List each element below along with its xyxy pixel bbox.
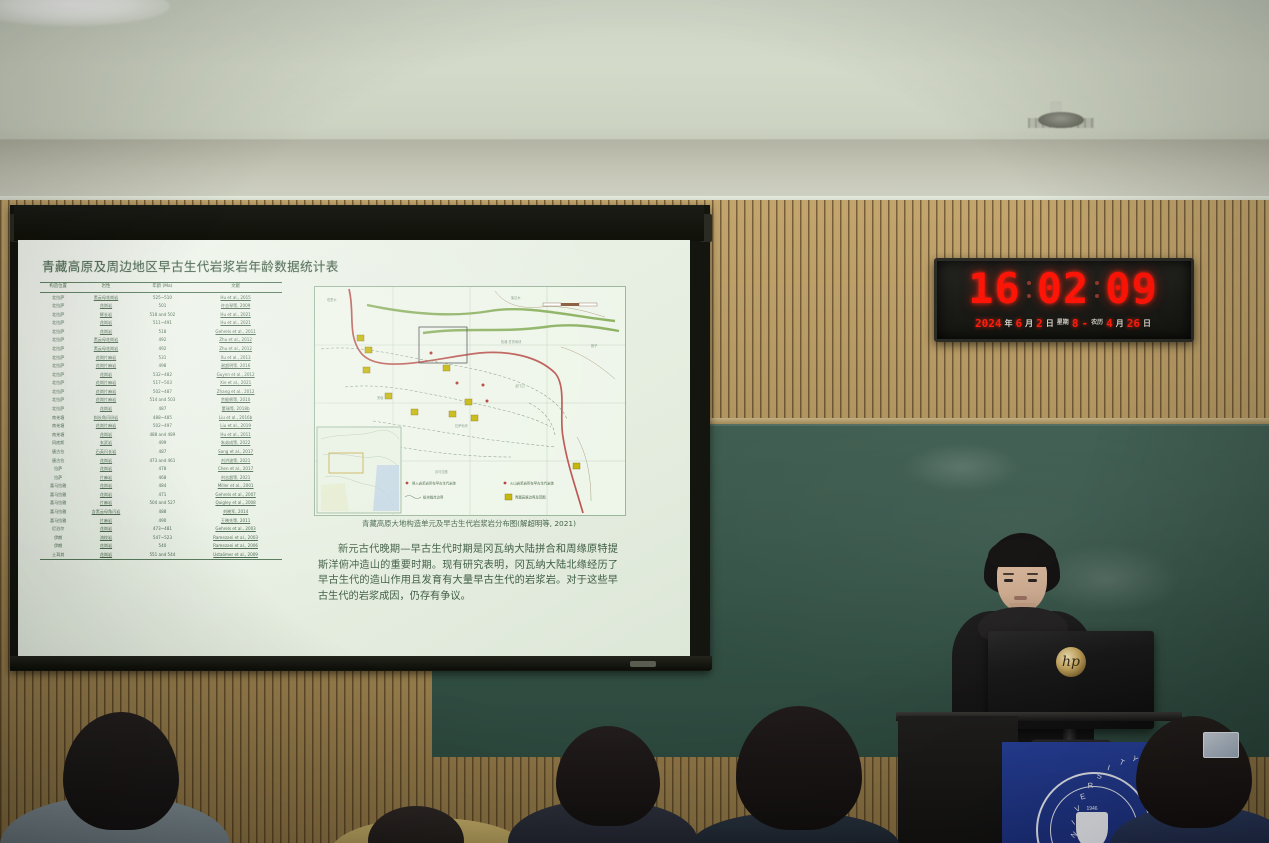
age-data-table-wrapper: 构造位置 岩性 年龄 (Ma) 文献 北拉萨黑云母花岗岩525~510Hu et… [40, 282, 282, 560]
cell-location: 北拉萨 [40, 362, 76, 371]
table-row: 北拉萨花岗岩511~491Hu et al., 2021 [40, 319, 282, 328]
table-row: 南羌塘花岗岩488 and 489Hu et al., 2011 [40, 431, 282, 440]
cell-lithology: 含黑云母角闪岩 [76, 508, 135, 517]
cell-reference: Ustaömer et al., 2009 [189, 551, 282, 560]
svg-text:板块缝合边界: 板块缝合边界 [423, 495, 444, 500]
cell-lithology: 斜长角闪玢岩 [76, 414, 135, 423]
cell-age: 468 [136, 474, 190, 483]
svg-text:塔里木: 塔里木 [327, 297, 337, 302]
cell-age: 488 and 489 [136, 431, 190, 440]
cell-lithology: 黑云母花岗岩 [76, 293, 135, 302]
cell-location: 北拉萨 [40, 328, 76, 337]
clock-year-unit: 年 [1005, 318, 1013, 329]
tectonic-map: 塔里木柴达木 松潘-甘孜地块羌塘 拉萨地块龙门山 喜马拉雅扬子 [314, 286, 626, 516]
cell-location: 拉萨 [40, 474, 76, 483]
clock-lunar-day: 26 [1127, 317, 1140, 330]
cell-reference: Chen et al., 2017 [189, 465, 282, 474]
cell-age: 518 and 502 [136, 311, 190, 320]
table-row: 拉萨花岗岩478Chen et al., 2017 [40, 465, 282, 474]
cell-age: 502~487 [136, 388, 190, 397]
svg-text:青藏高原边界及范围: 青藏高原边界及范围 [515, 495, 546, 500]
table-header-age: 年龄 (Ma) [136, 283, 190, 293]
cell-location: 喜马拉雅 [40, 499, 76, 508]
cell-reference: Zhu et al., 2012 [189, 345, 282, 354]
upper-wall [0, 140, 1269, 202]
cell-location: 伊朗 [40, 542, 76, 551]
projection-screen-housing [14, 205, 704, 241]
table-row: 北拉萨黑云母花岗岩492Zhu et al., 2012 [40, 345, 282, 354]
cell-location: 北拉萨 [40, 311, 76, 320]
cell-age: 531 [136, 353, 190, 362]
cell-location: 北拉萨 [40, 379, 76, 388]
cell-location: 尼泊尔 [40, 525, 76, 534]
cell-age: 488~485 [136, 414, 190, 423]
cell-location: 喜马拉雅 [40, 482, 76, 491]
seal-shield-icon [1076, 812, 1108, 843]
cell-location: 土耳其 [40, 551, 76, 560]
cell-location: 喜马拉雅 [40, 491, 76, 500]
cell-location: 伊朗 [40, 534, 76, 543]
clock-lunar-label: 农历 [1091, 320, 1103, 326]
table-header-row: 构造位置 岩性 年龄 (Ma) 文献 [40, 283, 282, 293]
clock-colon-icon [1095, 274, 1099, 304]
cell-age: 478 [136, 465, 190, 474]
hp-logo-icon: hp [1056, 647, 1086, 677]
cell-location: 冈底斯 [40, 439, 76, 448]
cell-location: 北拉萨 [40, 336, 76, 345]
cell-reference: Hu et al., 2021 [189, 319, 282, 328]
table-row: 南羌塘斜长角闪玢岩488~485Liu et al., 2016b [40, 414, 282, 423]
cell-lithology: 花岗岩 [76, 371, 135, 380]
cell-reference: 董瑞等, 2018b [189, 405, 282, 414]
presentation-slide: 青藏高原及周边地区早古生代岩浆岩年龄数据统计表 构造位置 岩性 年龄 (Ma) … [18, 240, 690, 658]
cell-reference: 谢超明等, 2016 [189, 362, 282, 371]
svg-text:扬子: 扬子 [591, 343, 598, 348]
cell-reference: Ramezani et al., 2006 [189, 542, 282, 551]
cell-lithology: 花岗岩 [76, 551, 135, 560]
svg-text:喜马拉雅: 喜马拉雅 [435, 469, 449, 474]
cell-reference: 刘晓军, 2014 [189, 508, 282, 517]
cell-age: 551 and 544 [136, 551, 190, 560]
cell-reference: Xie et al., 2021 [189, 379, 282, 388]
cell-location: 北拉萨 [40, 319, 76, 328]
led-wall-clock: 16 02 09 2024 年 6 月 2 日 星期 8 - 农历 4 月 26… [934, 258, 1194, 342]
cell-reference: 朱弟成等, 2022 [189, 439, 282, 448]
cell-location: 南羌塘 [40, 414, 76, 423]
ceiling-light-fixture [0, 0, 170, 26]
clock-lunar-day-unit: 日 [1143, 318, 1151, 329]
presenter-eyebrow [1027, 573, 1038, 575]
cell-age: 502~497 [136, 422, 190, 431]
cell-location: 北拉萨 [40, 345, 76, 354]
table-row: 北拉萨花岗片麻岩531Xu et al., 2013 [40, 353, 282, 362]
cell-lithology: 花岗岩 [76, 302, 135, 311]
projection-screen-surface: 青藏高原及周边地区早古生代岩浆岩年龄数据统计表 构造位置 岩性 年龄 (Ma) … [18, 240, 690, 658]
table-row: 伊朗流纹岩547~523Ramezani et al., 2003 [40, 534, 282, 543]
cell-age: 473~481 [136, 525, 190, 534]
table-header-reference: 文献 [189, 283, 282, 293]
cell-age: 525~510 [136, 293, 190, 302]
chalk-smudge [902, 442, 1022, 492]
cell-location: 北拉萨 [40, 388, 76, 397]
svg-text:柴达木: 柴达木 [511, 295, 521, 300]
clock-year: 2024 [975, 317, 1002, 330]
slide-title: 青藏高原及周边地区早古生代岩浆岩年龄数据统计表 [42, 256, 339, 275]
cell-reference: 余能辉等, 2010 [189, 396, 282, 405]
cell-reference: Liu et al., 2016b [189, 414, 282, 423]
cell-location: 喜马拉雅 [40, 508, 76, 517]
cell-location: 唐古拉 [40, 456, 76, 465]
cell-location: 北拉萨 [40, 302, 76, 311]
table-row: 尼泊尔花岗岩473~481Gehrels et al., 2003 [40, 525, 282, 534]
table-row: 北拉萨花岗岩532~482Guynn et al., 2012 [40, 371, 282, 380]
cell-lithology: 辉长岩 [76, 311, 135, 320]
cell-lithology: 花岗岩 [76, 465, 135, 474]
table-row: 喜马拉雅片麻岩504 and 527Quigley et al., 2008 [40, 499, 282, 508]
cell-lithology: 花岗片麻岩 [76, 422, 135, 431]
cell-lithology: 片麻岩 [76, 499, 135, 508]
cell-reference: Guynn et al., 2012 [189, 371, 282, 380]
cell-lithology: 片麻岩 [76, 474, 135, 483]
cell-reference: Xu et al., 2013 [189, 353, 282, 362]
cell-reference: Hu et al., 2015 [189, 293, 282, 302]
seal-char: E [1079, 791, 1087, 801]
clock-minutes: 02 [1037, 268, 1090, 310]
cell-reference: 许志琴等, 2009 [189, 302, 282, 311]
cell-reference: Ramezani et al., 2003 [189, 534, 282, 543]
slide-paragraph: 新元古代晚期—早古生代时期是冈瓦纳大陆拼合和周缘原特提斯洋俯冲造山的重要时期。现… [318, 542, 618, 604]
clock-time-display: 16 02 09 [943, 265, 1183, 313]
cell-age: 488 [136, 508, 190, 517]
cell-location: 北拉萨 [40, 405, 76, 414]
cell-age: 504 and 527 [136, 499, 190, 508]
cell-age: 473 and 461 [136, 456, 190, 465]
svg-text:松潘-甘孜地块: 松潘-甘孜地块 [501, 339, 522, 344]
cell-lithology: 黑云母花岗岩 [76, 345, 135, 354]
cell-reference: Zhu et al., 2012 [189, 336, 282, 345]
screen-bottom-bar [10, 656, 712, 670]
clock-month: 6 [1016, 317, 1023, 330]
cell-lithology: 花岗岩 [76, 525, 135, 534]
cell-age: 547~523 [136, 534, 190, 543]
clock-colon-icon [1027, 274, 1031, 304]
cell-location: 北拉萨 [40, 293, 76, 302]
cell-lithology: 片麻岩 [76, 516, 135, 525]
clock-month-unit: 月 [1025, 318, 1033, 329]
svg-text:拉萨地块: 拉萨地块 [455, 423, 469, 428]
table-row: 南羌塘花岗片麻岩502~497Liu et al., 2019 [40, 422, 282, 431]
cell-reference: Miller et al., 2001 [189, 482, 282, 491]
clock-seconds: 09 [1105, 268, 1158, 310]
clock-dash: - [1081, 317, 1088, 330]
cell-location: 北拉萨 [40, 371, 76, 380]
table-header-location: 构造位置 [40, 283, 76, 293]
cell-reference: Quigley et al., 2008 [189, 499, 282, 508]
cell-lithology: 玄武岩 [76, 439, 135, 448]
cell-age: 490 [136, 516, 190, 525]
seal-founded-year: 1946 [1078, 806, 1106, 812]
cell-reference: Song et al., 2017 [189, 448, 282, 457]
clock-hours: 16 [968, 268, 1021, 310]
table-row: 喜马拉雅片麻岩490王晓先等, 2011 [40, 516, 282, 525]
table-header-lithology: 岩性 [76, 283, 135, 293]
tectonic-map-graphic: 塔里木柴达木 松潘-甘孜地块羌塘 拉萨地块龙门山 喜马拉雅扬子 [315, 287, 625, 515]
cell-age: 492 [136, 345, 190, 354]
cell-reference: Hu et al., 2011 [189, 431, 282, 440]
table-row: 北拉萨花岗片麻岩502~487Zhang et al., 2012 [40, 388, 282, 397]
cell-age: 487 [136, 448, 190, 457]
table-row: 唐古拉花岗岩473 and 461刘洪波等, 2021 [40, 456, 282, 465]
presenter-eye [1004, 579, 1013, 582]
table-row: 北拉萨花岗片麻岩498谢超明等, 2016 [40, 362, 282, 371]
clock-weekday-value: 8 [1072, 317, 1079, 330]
table-row: 伊朗花岗岩540Ramezani et al., 2006 [40, 542, 282, 551]
cell-lithology: 花岗片麻岩 [76, 362, 135, 371]
cell-lithology: 花岗岩 [76, 431, 135, 440]
table-row: 拉萨片麻岩468刘志超等, 2021 [40, 474, 282, 483]
cell-age: 540 [136, 542, 190, 551]
cell-location: 北拉萨 [40, 353, 76, 362]
cell-location: 北拉萨 [40, 396, 76, 405]
cell-lithology: 流纹岩 [76, 534, 135, 543]
cell-lithology: 花岗岩 [76, 319, 135, 328]
cell-location: 拉萨 [40, 465, 76, 474]
svg-text:龙门山: 龙门山 [515, 383, 525, 388]
cell-reference: 王晓先等, 2011 [189, 516, 282, 525]
cell-lithology: 花岗岩 [76, 328, 135, 337]
cell-age: 471 [136, 491, 190, 500]
table-row: 北拉萨辉长岩518 and 502Hu et al., 2021 [40, 311, 282, 320]
cell-age: 492 [136, 336, 190, 345]
cell-reference: Hu et al., 2021 [189, 311, 282, 320]
table-row: 北拉萨花岗片麻岩514 and 503余能辉等, 2010 [40, 396, 282, 405]
cell-lithology: 花岗岩 [76, 491, 135, 500]
cell-age: 501 [136, 302, 190, 311]
cell-lithology: 花岗片麻岩 [76, 353, 135, 362]
svg-text:侵入岩浆岩所在早古生代岩体: 侵入岩浆岩所在早古生代岩体 [412, 481, 457, 486]
cell-reference: Zhang et al., 2012 [189, 388, 282, 397]
lecture-hall-photo: 16 02 09 2024 年 6 月 2 日 星期 8 - 农历 4 月 26… [0, 0, 1269, 843]
cell-reference: 刘洪波等, 2021 [189, 456, 282, 465]
clock-weekday-label: 星期 [1057, 320, 1069, 326]
table-row: 土耳其花岗岩551 and 544Ustaömer et al., 2009 [40, 551, 282, 560]
cell-reference: Gehrels et al., 2011 [189, 328, 282, 337]
clock-lunar-month-unit: 月 [1116, 318, 1124, 329]
table-row: 北拉萨花岗岩518Gehrels et al., 2011 [40, 328, 282, 337]
cell-location: 唐古拉 [40, 448, 76, 457]
cell-age: 514 and 503 [136, 396, 190, 405]
cell-lithology: 花岗岩 [76, 456, 135, 465]
svg-text:火山岩浆岩所在早古生代岩体: 火山岩浆岩所在早古生代岩体 [510, 481, 555, 486]
audience-phone[interactable] [1203, 732, 1239, 758]
screen-pull-tab [630, 661, 656, 667]
cell-age: 484 [136, 482, 190, 491]
map-caption: 青藏高原大地构造单元及早古生代岩浆岩分布图(解超明等, 2021) [314, 518, 624, 529]
table-row: 北拉萨黑云母花岗岩492Zhu et al., 2012 [40, 336, 282, 345]
cell-lithology: 花岗岩 [76, 405, 135, 414]
presenter-fringe [988, 539, 1056, 567]
table-row: 喜马拉雅含黑云母角闪岩488刘晓军, 2014 [40, 508, 282, 517]
table-row: 冈底斯玄武岩499朱弟成等, 2022 [40, 439, 282, 448]
cell-lithology: 花岗片麻岩 [76, 379, 135, 388]
cell-age: 511~491 [136, 319, 190, 328]
cell-age: 518 [136, 328, 190, 337]
ceiling-sensor [1038, 112, 1084, 128]
podium-body [898, 716, 1018, 843]
cell-location: 南羌塘 [40, 431, 76, 440]
cell-age: 517~503 [136, 379, 190, 388]
cell-lithology: 花岗片麻岩 [76, 388, 135, 397]
age-data-table: 构造位置 岩性 年龄 (Ma) 文献 北拉萨黑云母花岗岩525~510Hu et… [40, 282, 282, 560]
seal-char: S [1096, 771, 1102, 780]
table-row: 北拉萨花岗岩487董瑞等, 2018b [40, 405, 282, 414]
cell-lithology: 黑云母花岗岩 [76, 336, 135, 345]
presenter-eyebrow [1003, 573, 1014, 575]
table-row: 喜马拉雅花岗岩471Gehrels et al., 2007 [40, 491, 282, 500]
table-row: 北拉萨花岗片麻岩517~503Xie et al., 2021 [40, 379, 282, 388]
table-row: 北拉萨黑云母花岗岩525~510Hu et al., 2015 [40, 293, 282, 302]
cell-lithology: 花岗片麻岩 [76, 396, 135, 405]
cell-reference: Liu et al., 2019 [189, 422, 282, 431]
cell-age: 499 [136, 439, 190, 448]
cell-reference: 刘志超等, 2021 [189, 474, 282, 483]
clock-day-unit: 日 [1046, 318, 1054, 329]
cell-age: 498 [136, 362, 190, 371]
cell-lithology: 石英闪长岩 [76, 448, 135, 457]
clock-lunar-month: 4 [1106, 317, 1113, 330]
clock-date-display: 2024 年 6 月 2 日 星期 8 - 农历 4 月 26 日 [943, 313, 1183, 333]
cell-lithology: 花岗岩 [76, 482, 135, 491]
seal-char: R [1087, 781, 1094, 790]
svg-text:羌塘: 羌塘 [377, 395, 384, 400]
cell-age: 487 [136, 405, 190, 414]
clock-day: 2 [1036, 317, 1043, 330]
table-row: 唐古拉石英闪长岩487Song et al., 2017 [40, 448, 282, 457]
presenter-mouth [1014, 596, 1027, 600]
cell-location: 南羌塘 [40, 422, 76, 431]
cell-age: 532~482 [136, 371, 190, 380]
presenter-eye [1028, 579, 1037, 582]
cell-reference: Gehrels et al., 2003 [189, 525, 282, 534]
table-row: 喜马拉雅花岗岩484Miller et al., 2001 [40, 482, 282, 491]
cell-reference: Gehrels et al., 2007 [189, 491, 282, 500]
cell-location: 喜马拉雅 [40, 516, 76, 525]
table-row: 北拉萨花岗岩501许志琴等, 2009 [40, 302, 282, 311]
cell-lithology: 花岗岩 [76, 542, 135, 551]
